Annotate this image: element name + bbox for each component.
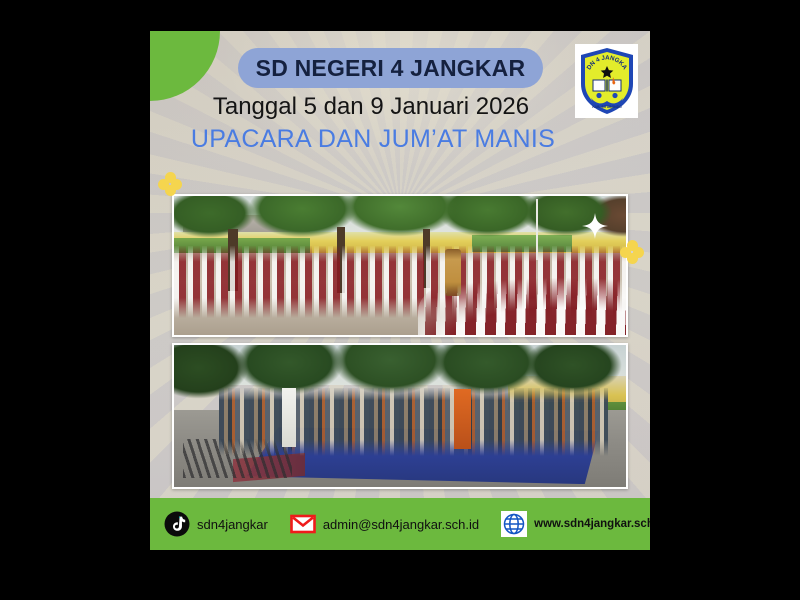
school-logo: SDN 4 JANGKAR KAB. SITUBONDO bbox=[575, 44, 638, 118]
photo1-tree-canopy bbox=[172, 194, 628, 243]
school-name-banner: SD NEGERI 4 JANGKAR bbox=[238, 48, 543, 88]
photo1-foreground-students bbox=[418, 271, 626, 337]
website-url-text: www.sdn4jangkar.sch.id bbox=[534, 518, 650, 530]
contact-email[interactable]: admin@sdn4jangkar.sch.id bbox=[290, 511, 479, 537]
email-icon bbox=[290, 511, 316, 537]
school-name-text: SD NEGERI 4 JANGKAR bbox=[256, 55, 526, 82]
svg-text:KAB. SITUBONDO: KAB. SITUBONDO bbox=[592, 105, 622, 109]
photo2-person-white-robe bbox=[282, 388, 296, 448]
flower-decoration-right bbox=[620, 240, 644, 264]
photo-upacara-image bbox=[174, 196, 626, 335]
photo-upacara bbox=[172, 194, 628, 337]
photo-jumat-manis-image bbox=[174, 345, 626, 487]
event-date-text: Tanggal 5 dan 9 Januari 2026 bbox=[150, 93, 592, 121]
photo2-person-orange-shirt bbox=[454, 389, 470, 449]
website-icon bbox=[501, 511, 527, 537]
photo-jumat-manis bbox=[172, 343, 628, 489]
flower-decoration-left bbox=[158, 172, 182, 196]
contact-tiktok[interactable]: sdn4jangkar bbox=[164, 511, 268, 537]
tiktok-handle-text: sdn4jangkar bbox=[197, 517, 268, 532]
tiktok-icon bbox=[164, 511, 190, 537]
screenshot-canvas: SD NEGERI 4 JANGKAR Tanggal 5 dan 9 Janu… bbox=[0, 0, 800, 600]
school-logo-icon: SDN 4 JANGKAR KAB. SITUBONDO bbox=[578, 46, 636, 116]
contact-footer-bar: sdn4jangkar admin@sdn4jangkar.sch.id bbox=[150, 498, 650, 550]
school-announcement-poster: SD NEGERI 4 JANGKAR Tanggal 5 dan 9 Janu… bbox=[150, 31, 650, 550]
sparkle-decoration bbox=[582, 213, 608, 239]
photo2-congregation bbox=[219, 388, 608, 456]
contact-website[interactable]: www.sdn4jangkar.sch.id bbox=[501, 511, 650, 537]
email-address-text: admin@sdn4jangkar.sch.id bbox=[323, 517, 479, 532]
event-title-text: UPACARA DAN JUM’AT MANIS bbox=[150, 125, 596, 154]
